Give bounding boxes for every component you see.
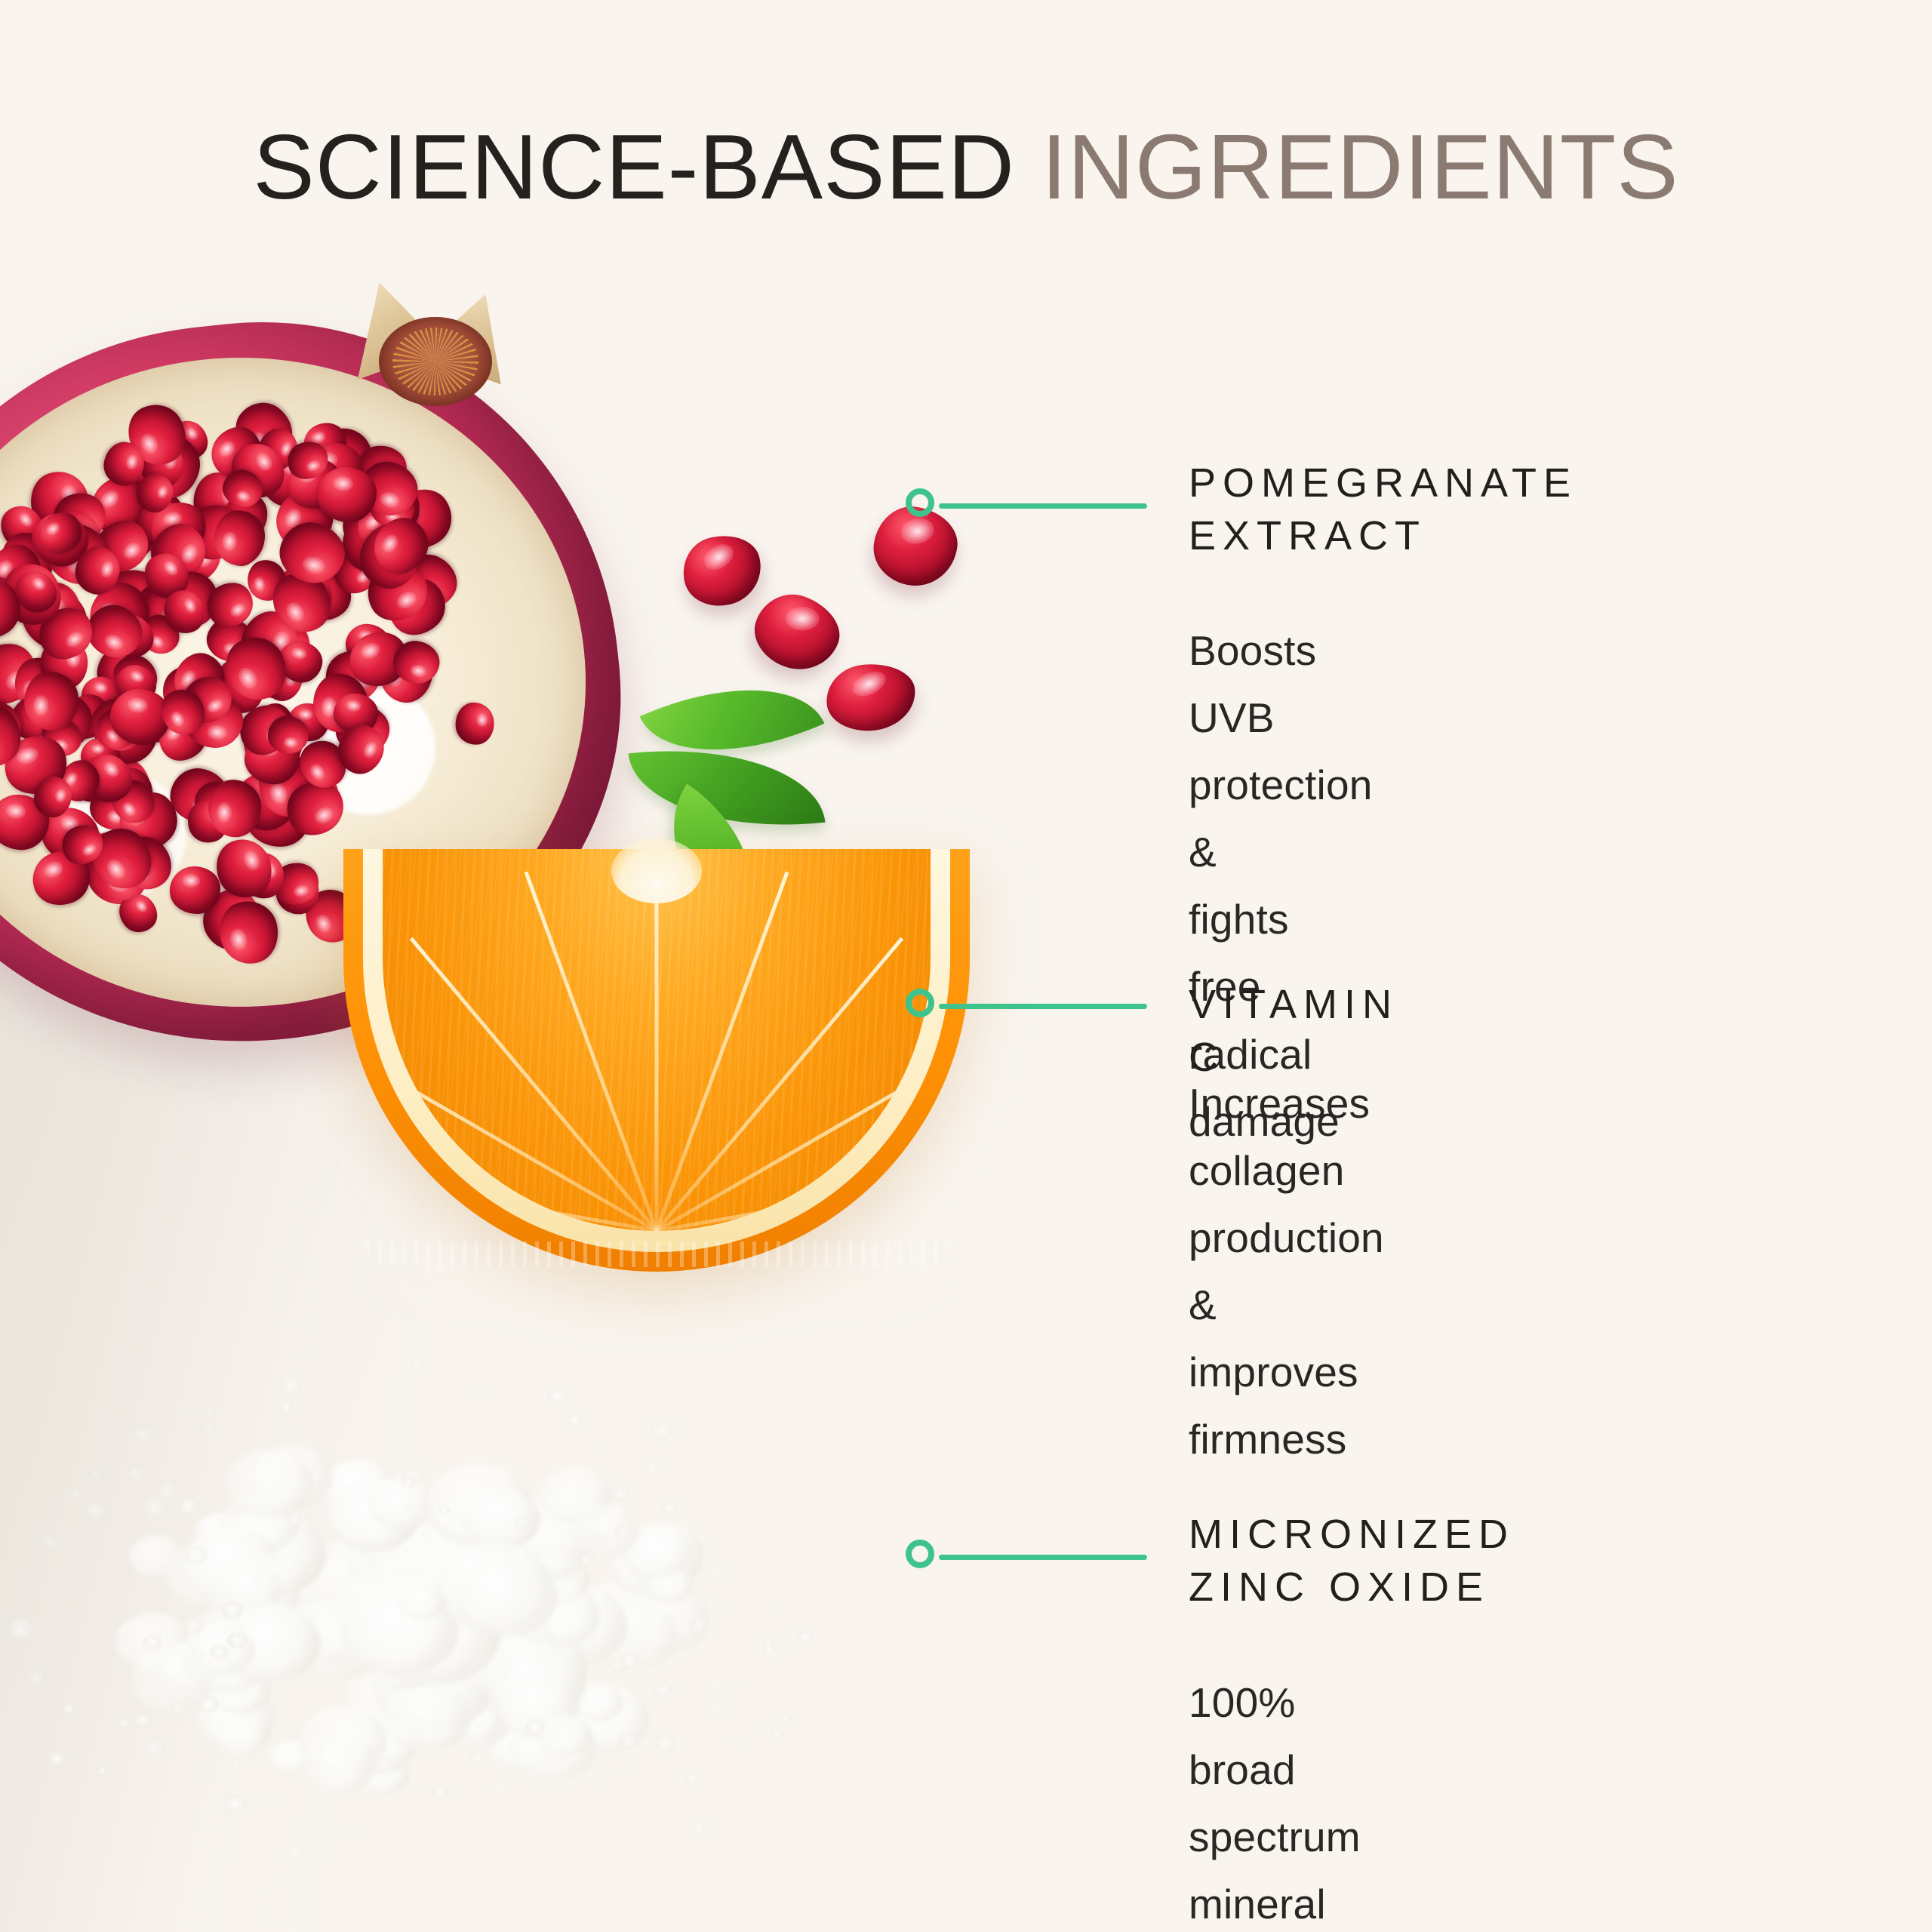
page-title: SCIENCE-BASED INGREDIENTS [0, 121, 1932, 213]
powder-speck [285, 1512, 303, 1526]
powder-speck [205, 1409, 214, 1417]
pomegranate-seed [823, 660, 919, 735]
powder-speck [717, 1608, 723, 1614]
powder-speck [285, 1842, 305, 1858]
powder-speck [128, 1468, 143, 1479]
powder-speck [204, 1426, 214, 1434]
pomegranate-aril [454, 701, 495, 746]
powder-speck [232, 1759, 241, 1766]
powder-speck [619, 1734, 638, 1749]
powder-speck [755, 1721, 764, 1730]
connector-dot-icon [906, 1540, 934, 1568]
powder-speck [623, 1764, 629, 1769]
powder-speck [567, 1414, 583, 1426]
powder-speck [653, 1734, 676, 1753]
powder-speck [278, 1401, 294, 1414]
powder-speck [691, 1823, 706, 1835]
powder-speck [708, 1565, 726, 1580]
powder-speck [343, 1831, 353, 1839]
powder-speck [86, 1503, 104, 1517]
powder-speck [620, 1652, 640, 1668]
powder-speck [596, 1445, 601, 1449]
callout-heading-zinc: MICRONIZED ZINC OXIDE [1189, 1508, 1515, 1614]
powder-speck [547, 1389, 568, 1405]
powder-speck [734, 1738, 741, 1743]
powder-speck [63, 1704, 75, 1713]
powder-speck [401, 1477, 415, 1487]
connector-line [939, 1555, 1147, 1560]
powder-clump [398, 1584, 445, 1620]
powder-speck [237, 1683, 245, 1690]
connector-pomegranate [906, 502, 1147, 509]
pomegranate-aril [208, 780, 261, 837]
powder-speck [770, 1601, 782, 1611]
powder-speck [317, 1747, 322, 1751]
powder-speck [135, 1429, 149, 1440]
powder-speck [143, 1740, 165, 1757]
powder-speck [652, 1681, 673, 1698]
connector-dot-icon [906, 488, 934, 517]
powder-speck [793, 1641, 801, 1648]
powder-speck [685, 1771, 700, 1784]
powder-speck [158, 1484, 176, 1498]
powder-speck [29, 1672, 44, 1683]
powder-speck [762, 1644, 777, 1656]
powder-speck [514, 1516, 531, 1530]
powder-speck [307, 1527, 315, 1533]
powder-speck [198, 1696, 219, 1713]
powder-speck [709, 1682, 724, 1694]
powder-speck [478, 1386, 488, 1394]
ingredient-photography [0, 0, 1932, 1932]
powder-speck [179, 1498, 198, 1514]
powder-speck [268, 1799, 277, 1806]
connector-line [939, 1004, 1147, 1009]
powder-clump [226, 1450, 314, 1518]
powder-clump [383, 1684, 471, 1752]
powder-speck [645, 1460, 659, 1470]
powder-speck [49, 1752, 65, 1765]
powder-speck [525, 1719, 545, 1735]
powder-speck [603, 1550, 609, 1555]
powder-speck [279, 1730, 284, 1734]
connector-line [939, 503, 1147, 509]
powder-speck [662, 1502, 677, 1514]
powder-speck [143, 1635, 162, 1650]
powder-speck [431, 1785, 448, 1798]
powder-speck [171, 1565, 180, 1573]
powder-clump [537, 1715, 592, 1757]
powder-speck [707, 1702, 722, 1714]
powder-speck [798, 1630, 815, 1644]
callout-heading-pomegranate: POMEGRANATE EXTRACT [1189, 457, 1577, 562]
powder-speck [192, 1649, 204, 1658]
powder-speck [771, 1730, 783, 1739]
orange-core [611, 838, 702, 903]
powder-speck [650, 1421, 673, 1440]
pomegranate-seed [675, 528, 768, 614]
powder-speck [494, 1782, 505, 1791]
pomegranate-crown [340, 273, 528, 424]
powder-speck [189, 1585, 195, 1589]
powder-speck [182, 1617, 204, 1635]
title-part-science-based: SCIENCE-BASED [253, 115, 1041, 218]
callout-body-vitamin-c: Increases collagen production & improves… [1189, 1070, 1384, 1474]
powder-speck [780, 1713, 792, 1723]
powder-clump [456, 1558, 558, 1637]
powder-speck [143, 1499, 165, 1515]
powder-speck [97, 1767, 107, 1774]
powder-speck [469, 1751, 487, 1765]
powder-speck [171, 1703, 185, 1713]
powder-speck [92, 1471, 100, 1477]
powder-speck [594, 1774, 605, 1783]
connector-vitamin-c [906, 1002, 1147, 1010]
powder-speck [71, 1491, 80, 1497]
orange-rind-dots [366, 1241, 947, 1267]
infographic-canvas: SCIENCE-BASED INGREDIENTS POMEGRANATE EX… [0, 0, 1932, 1932]
connector-zinc [906, 1553, 1147, 1561]
pomegranate-seed [745, 584, 849, 681]
powder-speck [578, 1553, 595, 1566]
powder-speck [611, 1486, 629, 1501]
powder-speck [355, 1829, 365, 1837]
zinc-oxide-powder-image [68, 1306, 747, 1834]
callout-heading-vitamin-c: VITAMIN C [1189, 978, 1398, 1084]
orange-flesh [383, 849, 931, 1231]
powder-clump [217, 1718, 268, 1757]
powder-speck [614, 1524, 632, 1538]
powder-speck [118, 1719, 128, 1727]
powder-speck [570, 1571, 578, 1577]
orange-slice-image [343, 849, 970, 1272]
powder-speck [134, 1714, 150, 1727]
powder-speck [737, 1681, 745, 1687]
connector-dot-icon [906, 989, 934, 1017]
powder-clump [300, 1736, 377, 1795]
orange-segment-divider [655, 849, 659, 1231]
powder-speck [178, 1413, 183, 1417]
callout-body-zinc: 100% broad spectrum mineral protection [1189, 1669, 1373, 1932]
powder-speck [210, 1644, 228, 1660]
powder-speck [223, 1795, 248, 1814]
powder-speck [438, 1506, 450, 1515]
pomegranate-aril [170, 866, 221, 913]
powder-speck [279, 1377, 303, 1395]
title-part-ingredients: INGREDIENTS [1041, 115, 1679, 218]
crown-center [379, 317, 492, 406]
powder-speck [410, 1358, 425, 1370]
